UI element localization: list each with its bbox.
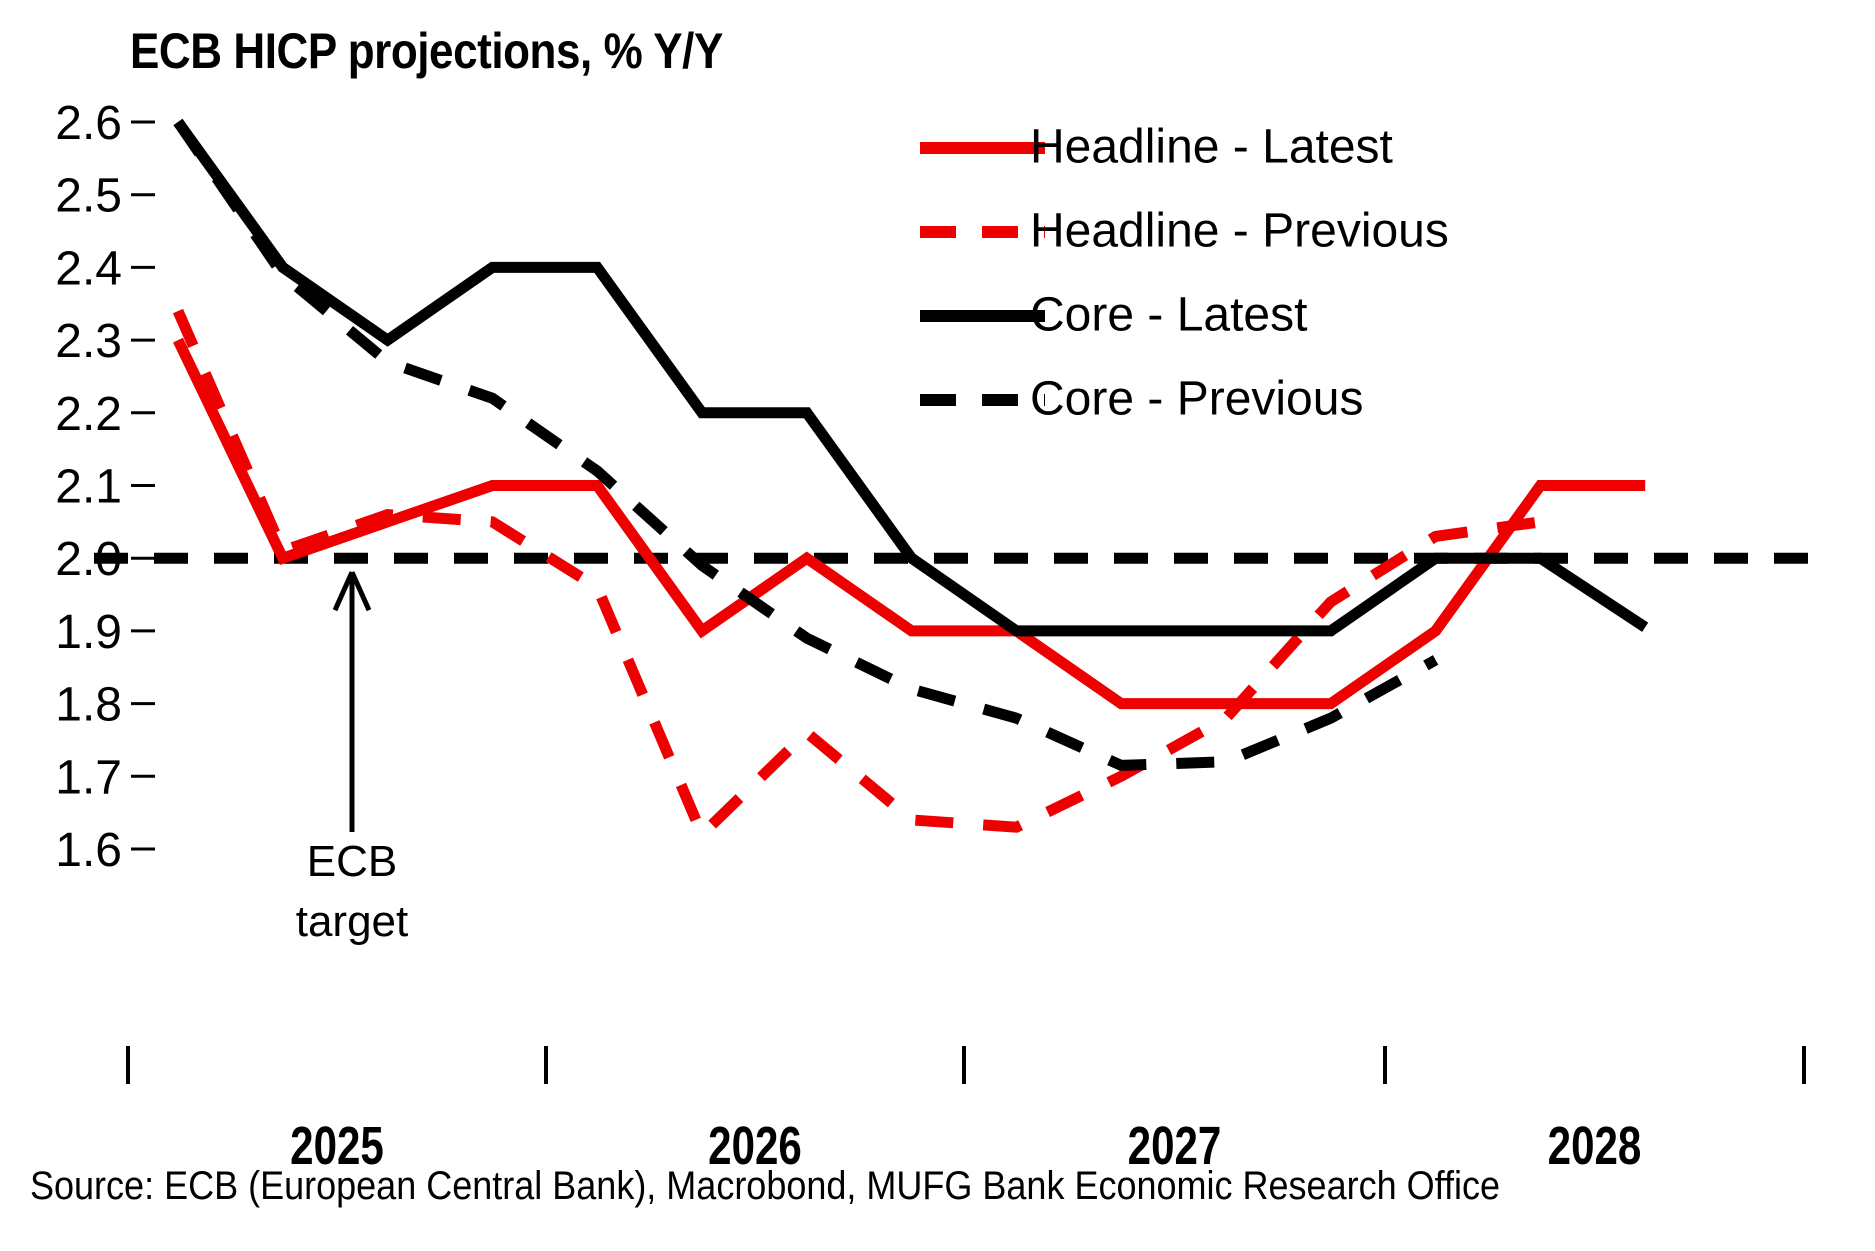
legend-label-2: Headline - Previous [1030,205,1449,258]
y-axis-tick-label: 2.6 [55,97,122,150]
y-axis-tick-label: 1.7 [55,751,122,804]
y-axis-ticks [131,122,158,849]
y-axis-tick-label: 2.5 [55,170,122,223]
y-axis-tick-label: 2.4 [55,242,122,295]
y-axis-tick-label: 2.1 [55,461,122,514]
legend-label-4: Core - Previous [1030,373,1363,426]
x-axis-tick-label: 2028 [1548,1116,1642,1176]
y-axis-tick-label: 1.9 [55,606,122,659]
legend-label-3: Core - Latest [1030,289,1307,342]
y-axis-tick-label: 2.2 [55,388,122,441]
y-axis-tick-label: 2.3 [55,315,122,368]
y-axis-tick-label: 1.8 [55,679,122,732]
line-chart-plot: 2.62.52.42.32.22.12.01.91.81.71.6 202520… [0,0,1875,1251]
annotation-label-line2: target [296,897,409,946]
ecb-target-annotation: ECBtarget [296,572,409,946]
chart-root: ECB HICP projections, % Y/Y 2.62.52.42.3… [0,0,1875,1251]
source-note: Source: ECB (European Central Bank), Mac… [30,1164,1500,1209]
chart-legend: Headline - LatestHeadline - PreviousCore… [920,121,1449,426]
y-axis-tick-label: 1.6 [55,824,122,877]
x-axis-ticks [128,1046,1804,1084]
legend-label-1: Headline - Latest [1030,121,1393,174]
annotation-label-line1: ECB [307,837,397,886]
y-axis-labels: 2.62.52.42.32.22.12.01.91.81.71.6 [55,97,122,877]
series-line-headline-latest [178,340,1645,703]
